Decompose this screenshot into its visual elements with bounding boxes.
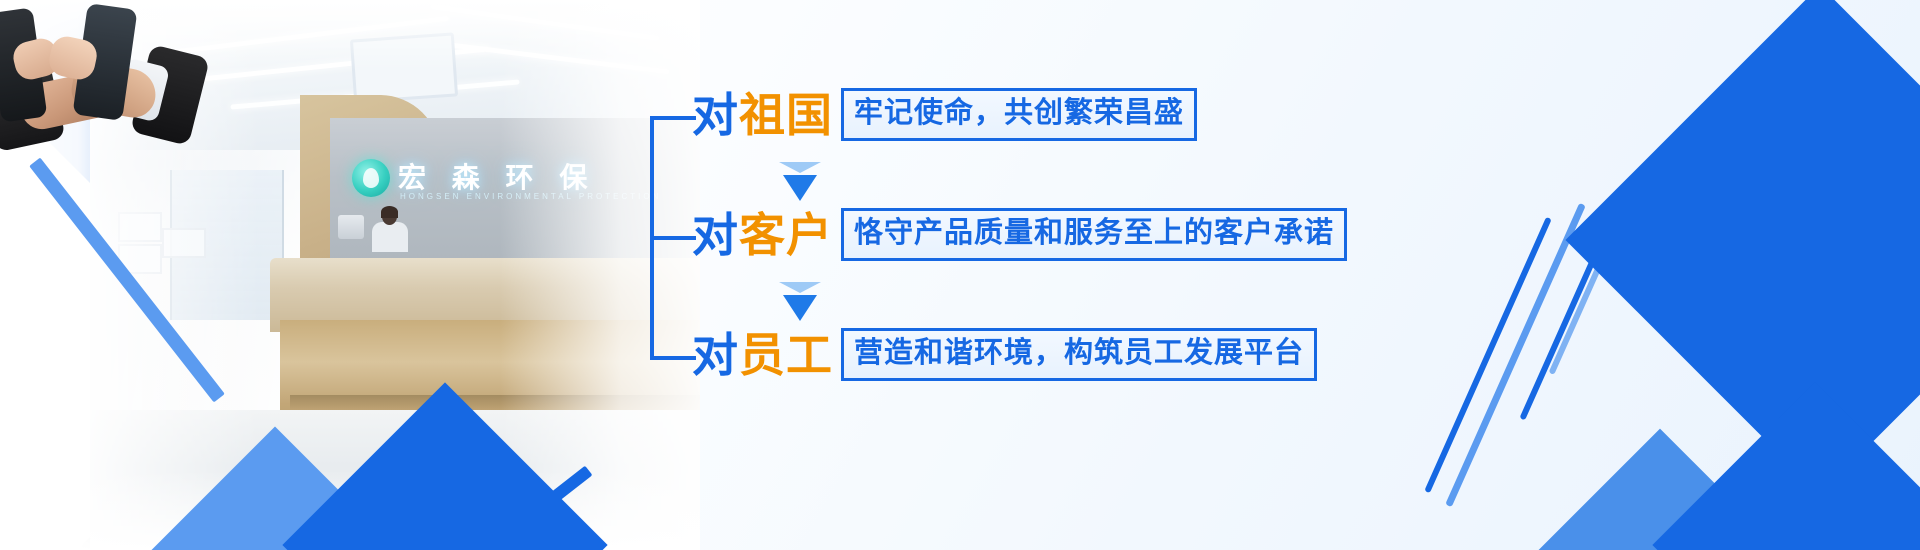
receptionist-hair [381, 206, 398, 218]
value-row-country: 对祖国 牢记使命，共创繁荣昌盛 [692, 88, 1197, 141]
bracket-connector [650, 0, 710, 550]
value-prefix-customer: 对 [692, 209, 739, 261]
bracket-branch-1 [650, 116, 696, 120]
bracket-branch-2 [650, 236, 696, 240]
value-promise-country: 牢记使命，共创繁荣昌盛 [841, 88, 1197, 141]
company-logo-icon [352, 159, 390, 197]
reception-monitor [338, 215, 364, 239]
value-prefix-employee: 对 [692, 329, 739, 381]
values-list: 对祖国 牢记使命，共创繁荣昌盛 对客户 恪守产品质量和服务至上的客户承诺 对员工… [650, 0, 1920, 550]
corporate-values-banner: 宏 森 环 保 HONGSEN ENVIRONMENTAL PROTECTION [0, 0, 1920, 550]
receptionist-body [372, 222, 408, 252]
arrow-down-icon-2-top [779, 282, 821, 293]
value-promise-customer: 恪守产品质量和服务至上的客户承诺 [841, 208, 1347, 261]
bracket-branch-3 [650, 356, 696, 360]
arrow-down-icon-1-bottom [783, 175, 817, 201]
arrow-down-icon-2-bottom [783, 295, 817, 321]
value-target-customer: 客户 [739, 209, 833, 261]
value-promise-employee: 营造和谐环境，构筑员工发展平台 [841, 328, 1317, 381]
value-target-employee: 员工 [739, 329, 833, 381]
value-row-employee: 对员工 营造和谐环境，构筑员工发展平台 [692, 328, 1317, 381]
value-prefix-country: 对 [692, 89, 739, 141]
value-title-country: 对祖国 [692, 92, 833, 138]
value-row-customer: 对客户 恪守产品质量和服务至上的客户承诺 [692, 208, 1347, 261]
value-title-employee: 对员工 [692, 332, 833, 378]
value-title-customer: 对客户 [692, 212, 833, 258]
arrow-down-icon-1-top [779, 162, 821, 173]
value-target-country: 祖国 [739, 89, 833, 141]
